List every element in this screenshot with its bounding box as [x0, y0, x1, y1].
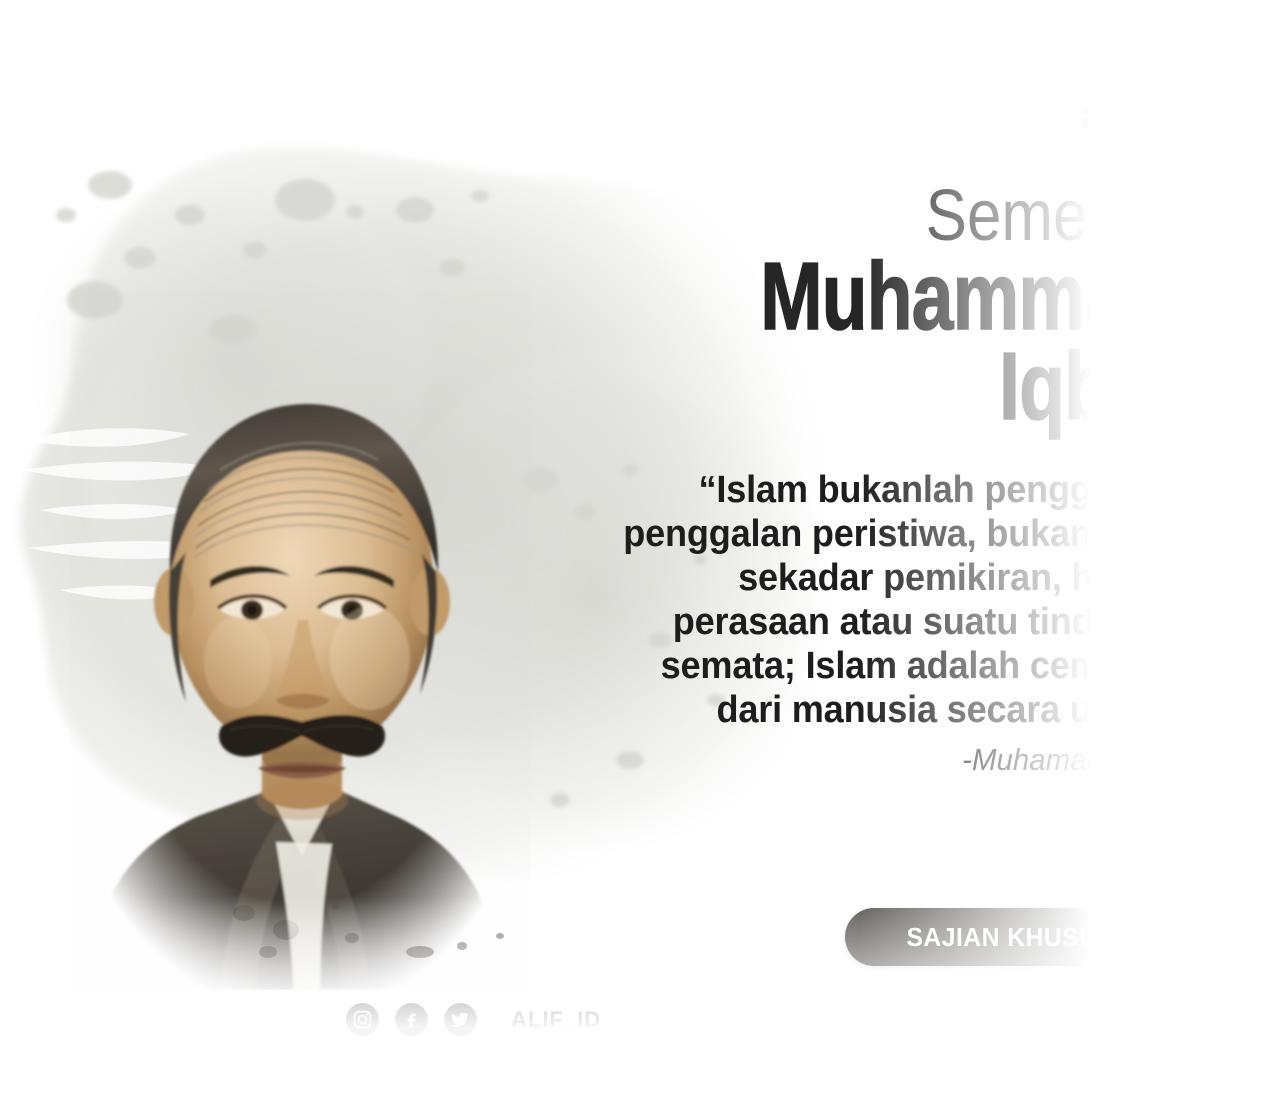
muhammad-iqbal-portrait [70, 290, 530, 990]
bottom-fade-overlay [0, 897, 1280, 1097]
poster-canvas: alif.id Semesta Muhammad Iqbal “Islam bu… [0, 0, 1280, 1097]
portrait-illustration [70, 290, 530, 990]
